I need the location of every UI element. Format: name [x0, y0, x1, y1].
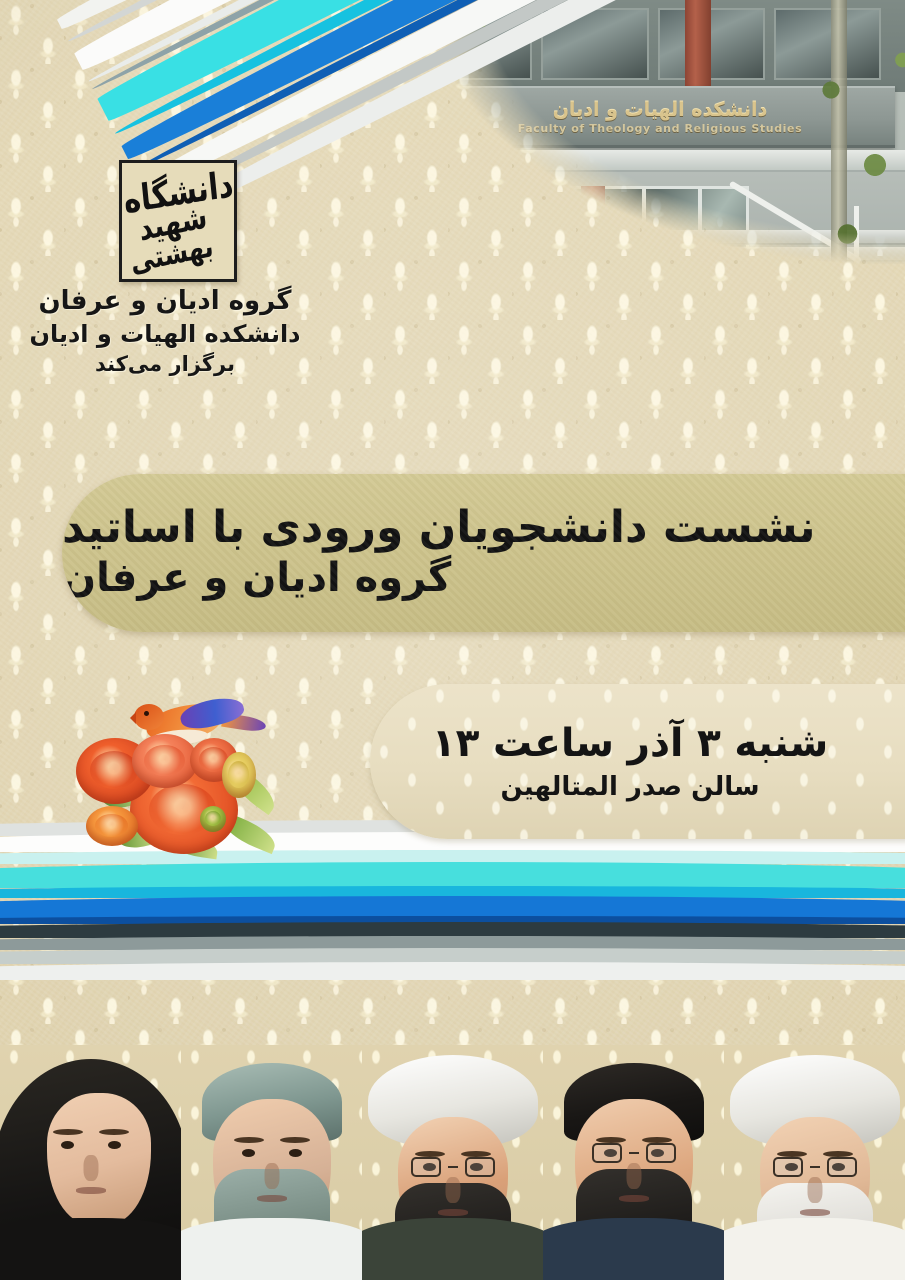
event-venue: سالن صدر المتالهین [500, 772, 759, 802]
portrait-5 [0, 1045, 181, 1280]
date-venue-panel: شنبه ۳ آذر ساعت ۱۳ سالن صدر المتالهین [370, 684, 905, 839]
nose [83, 1155, 98, 1181]
mouth [800, 1209, 830, 1216]
ribbon-band-6 [0, 896, 905, 918]
shoulders [724, 1218, 905, 1280]
title-banner: نشست دانشجویان ورودی با اساتید گروه ادیا… [62, 474, 905, 632]
eye-left [242, 1149, 255, 1157]
organizer-faculty: دانشکده الهیات و ادیان [0, 320, 330, 349]
flower-petal-detail [95, 814, 127, 837]
bird-beak [124, 712, 136, 724]
flower-petal-detail [205, 811, 221, 826]
bird-head [134, 704, 164, 730]
shoulders [181, 1218, 362, 1280]
bird-eye [144, 711, 149, 716]
event-title-line-2: گروه ادیان و عرفان [62, 555, 451, 601]
gol-o-morgh-illustration [72, 694, 302, 864]
portrait-4 [181, 1045, 362, 1280]
eye-right [108, 1141, 121, 1149]
eyebrow-left [234, 1137, 264, 1143]
eye-right [289, 1149, 302, 1157]
eyeglasses [592, 1143, 676, 1163]
portrait-2 [543, 1045, 724, 1280]
face [47, 1093, 151, 1225]
mouth [76, 1187, 106, 1194]
mouth [438, 1209, 468, 1216]
mouth [619, 1195, 649, 1202]
event-datetime: شنبه ۳ آذر ساعت ۱۳ [432, 721, 828, 766]
eyebrow-left [53, 1129, 83, 1135]
ribbon-band-4 [0, 862, 905, 888]
shoulders [543, 1218, 724, 1280]
nose [807, 1177, 822, 1203]
eye-left [61, 1141, 74, 1149]
flower-petal-detail [228, 761, 249, 788]
eyebrow-right [280, 1137, 310, 1143]
eyeglasses [411, 1157, 495, 1177]
ribbon-band-11 [0, 962, 905, 980]
shoulders [0, 1218, 181, 1280]
organizer-action: برگزار می‌کند [0, 352, 330, 378]
eyeglasses [773, 1157, 857, 1177]
event-title-line-1: نشست دانشجویان ورودی با اساتید [62, 505, 816, 551]
mouth [257, 1195, 287, 1202]
shoulders [362, 1218, 543, 1280]
organizer-department: گروه ادیان و عرفان [0, 286, 330, 318]
nose [264, 1163, 279, 1189]
nose [626, 1163, 641, 1189]
eyebrow-right [99, 1129, 129, 1135]
organizer-block: گروه ادیان و عرفان دانشکده الهیات و ادیا… [0, 286, 330, 378]
flower-petal-detail [144, 745, 185, 776]
portrait-1 [724, 1045, 905, 1280]
speaker-portrait-strip [0, 1045, 905, 1280]
event-poster: دانشکده الهیات و ادیان Faculty of Theolo… [0, 0, 905, 1280]
shahid-beheshti-university-logo: دانشگاه شهید بهشتی [119, 160, 237, 282]
portrait-3 [362, 1045, 543, 1280]
nose [445, 1177, 460, 1203]
